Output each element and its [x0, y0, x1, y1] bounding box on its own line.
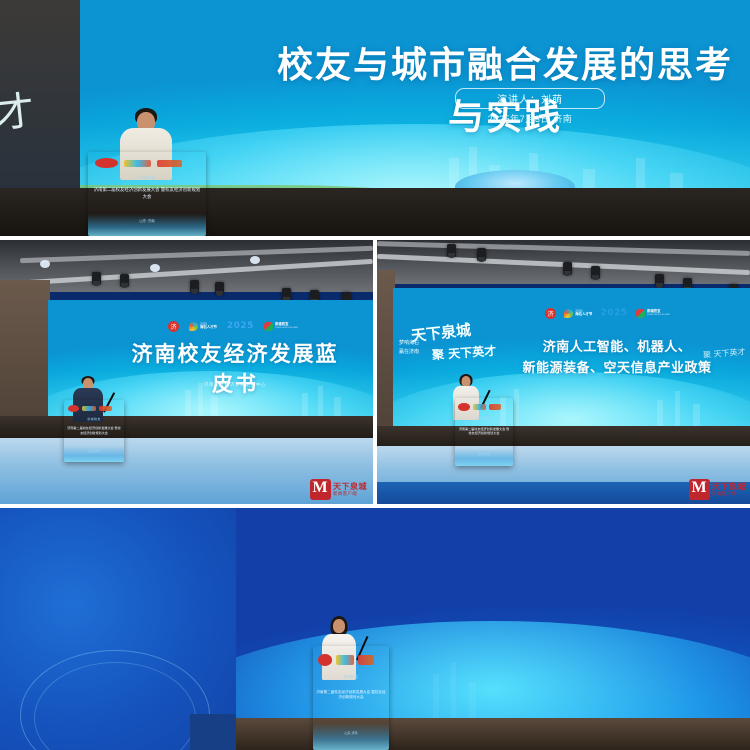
podium: 泉城校友 济南第二届校友经济创新发展大会 暨校友经济创新规划大会 山东·济南 — [455, 398, 513, 466]
slide-logo-row: 济 2025 海右人才节 2025 泉城校友 QUANCHENG ALUMNI — [168, 319, 298, 333]
podium: 泉城校友 济南第二届校友经济创新发展大会 暨校友经济创新规划大会 山东·济南 — [64, 400, 124, 462]
stage-light — [190, 280, 199, 293]
slide-logo-row: 济 2025 海右人才节 2025 泉城校友 QUANCHENG ALUMNI — [545, 306, 670, 320]
podium-main-text: 济南第二届校友经济创新发展大会 暨校友经济创新规划大会 — [457, 427, 510, 437]
year-mark: 2025 — [601, 308, 628, 318]
ceiling-downlight — [150, 264, 160, 272]
alumni-en: QUANCHENG ALUMNI — [647, 314, 670, 316]
podium-footer-text: 山东·济南 — [455, 452, 513, 456]
panel-bottom-lecture: 济 2025 海右人才节 2025 泉城校友 QUANCHENG ALUMNI … — [0, 508, 750, 750]
stage-front — [0, 416, 373, 438]
podium-art — [313, 723, 389, 750]
jinan-seal-icon: 济 — [168, 321, 179, 332]
panel-midleft-bluebook: 济 2025 海右人才节 2025 泉城校友 QUANCHENG ALUMNI … — [0, 240, 373, 504]
year-mark: 2025 — [227, 321, 254, 331]
podium-small-text: 泉城校友 — [313, 674, 389, 679]
podium-main-text: 济南第二届校友经济创新发展大会 暨校友经济创新规划大会 — [66, 426, 121, 436]
calligraphy-left: 才 — [0, 78, 37, 140]
alumni-logo: 泉城校友 QUANCHENG ALUMNI — [636, 309, 670, 318]
podium: 泉城校友 济南第二届校友经济创新发展大会 暨校友经济创新规划大会 山东·济南 — [88, 152, 206, 236]
watermark-title: 天下泉城 — [333, 483, 367, 491]
podium-art — [455, 448, 513, 466]
stage-light — [563, 262, 572, 275]
ceiling-downlight — [40, 260, 50, 268]
stage-light — [447, 244, 456, 257]
podium-footer-text: 山东·济南 — [64, 449, 124, 453]
talent-name: 海右人才节 — [575, 313, 592, 316]
watermark-m-icon — [689, 479, 710, 500]
stage-edge — [190, 714, 236, 750]
podium-art — [64, 446, 124, 462]
panel-midright-policy: 天下泉城 梦响海右 赢在济南 聚 天下英才 聚 天下英才 济 2025 海右人才… — [377, 240, 750, 504]
alumni-mark-icon — [264, 322, 273, 331]
watermark-subtitle: 新闻客户端 — [712, 492, 746, 497]
podium-footer-text: 山东·济南 — [313, 731, 389, 735]
calligraphy-sub1: 梦响海右 — [399, 340, 419, 348]
podium-small-text: 泉城校友 — [88, 175, 206, 181]
slide-date: 2025年7月3日 济南 — [455, 112, 605, 125]
watermark: 天下泉城 新闻客户端 — [310, 479, 367, 500]
ceiling-downlight — [250, 256, 260, 264]
stage-light — [92, 272, 101, 285]
alumni-en: QUANCHENG ALUMNI — [275, 327, 298, 329]
podium-small-text: 泉城校友 — [455, 416, 513, 420]
watermark-subtitle: 新闻客户端 — [333, 492, 367, 497]
panel-top-keynote: 才 校友与城市融合发展的思考与实践 演讲人：刘萌 2025年7月3日 济南 泉城… — [0, 0, 750, 236]
slide-title: 济南校友经济发展蓝皮书 — [130, 338, 340, 398]
stage-light — [477, 248, 486, 261]
talent-blob-icon — [189, 322, 198, 331]
slide-title-line1: 济南人工智能、机器人、 — [517, 336, 717, 355]
slide-subtitle: 济南校友经济发展研究中心 — [175, 382, 295, 388]
watermark: 天下泉城 新闻客户端 — [689, 479, 746, 500]
calligraphy-sub2: 赢在济南 — [399, 348, 419, 355]
slide-speaker: 演讲人：刘萌 — [455, 88, 605, 109]
podium-logos — [458, 403, 509, 412]
podium-footer-text: 山东·济南 — [88, 219, 206, 224]
podium-logos — [68, 404, 121, 412]
watermark-title: 天下泉城 — [712, 483, 746, 491]
stage-light — [120, 274, 129, 287]
stage-light — [655, 274, 664, 287]
watermark-m-icon — [310, 479, 331, 500]
podium-small-text: 泉城校友 — [64, 417, 124, 421]
alumni-logo: 泉城校友 QUANCHENG ALUMNI — [264, 322, 298, 331]
jinan-seal-icon: 济 — [545, 308, 556, 319]
slide-title-line2: 新能源装备、空天信息产业政策 — [497, 357, 737, 376]
photo-collage: 才 校友与城市融合发展的思考与实践 演讲人：刘萌 2025年7月3日 济南 泉城… — [0, 0, 750, 750]
stage-light — [591, 266, 600, 279]
podium: 泉城校友 济南第二届校友经济创新发展大会 暨校友经济创新规划大会 山东·济南 — [313, 646, 389, 750]
talent-festival-logo: 2025 海右人才节 — [564, 309, 592, 318]
screen-skyline — [390, 647, 750, 718]
talent-name: 海右人才节 — [200, 326, 217, 329]
podium-logos — [318, 653, 385, 667]
podium-main-text: 济南第二届校友经济创新发展大会 暨校友经济创新规划大会 — [93, 187, 202, 201]
podium-art — [88, 214, 206, 236]
podium-logos — [95, 158, 199, 169]
talent-festival-logo: 2025 海右人才节 — [189, 322, 217, 331]
stage-light — [215, 282, 224, 295]
alumni-mark-icon — [636, 309, 645, 318]
stage-front — [377, 426, 750, 448]
talent-blob-icon — [564, 309, 573, 318]
screen-skyline — [393, 372, 750, 428]
podium-main-text: 济南第二届校友经济创新发展大会 暨校友经济创新规划大会 — [316, 690, 386, 701]
